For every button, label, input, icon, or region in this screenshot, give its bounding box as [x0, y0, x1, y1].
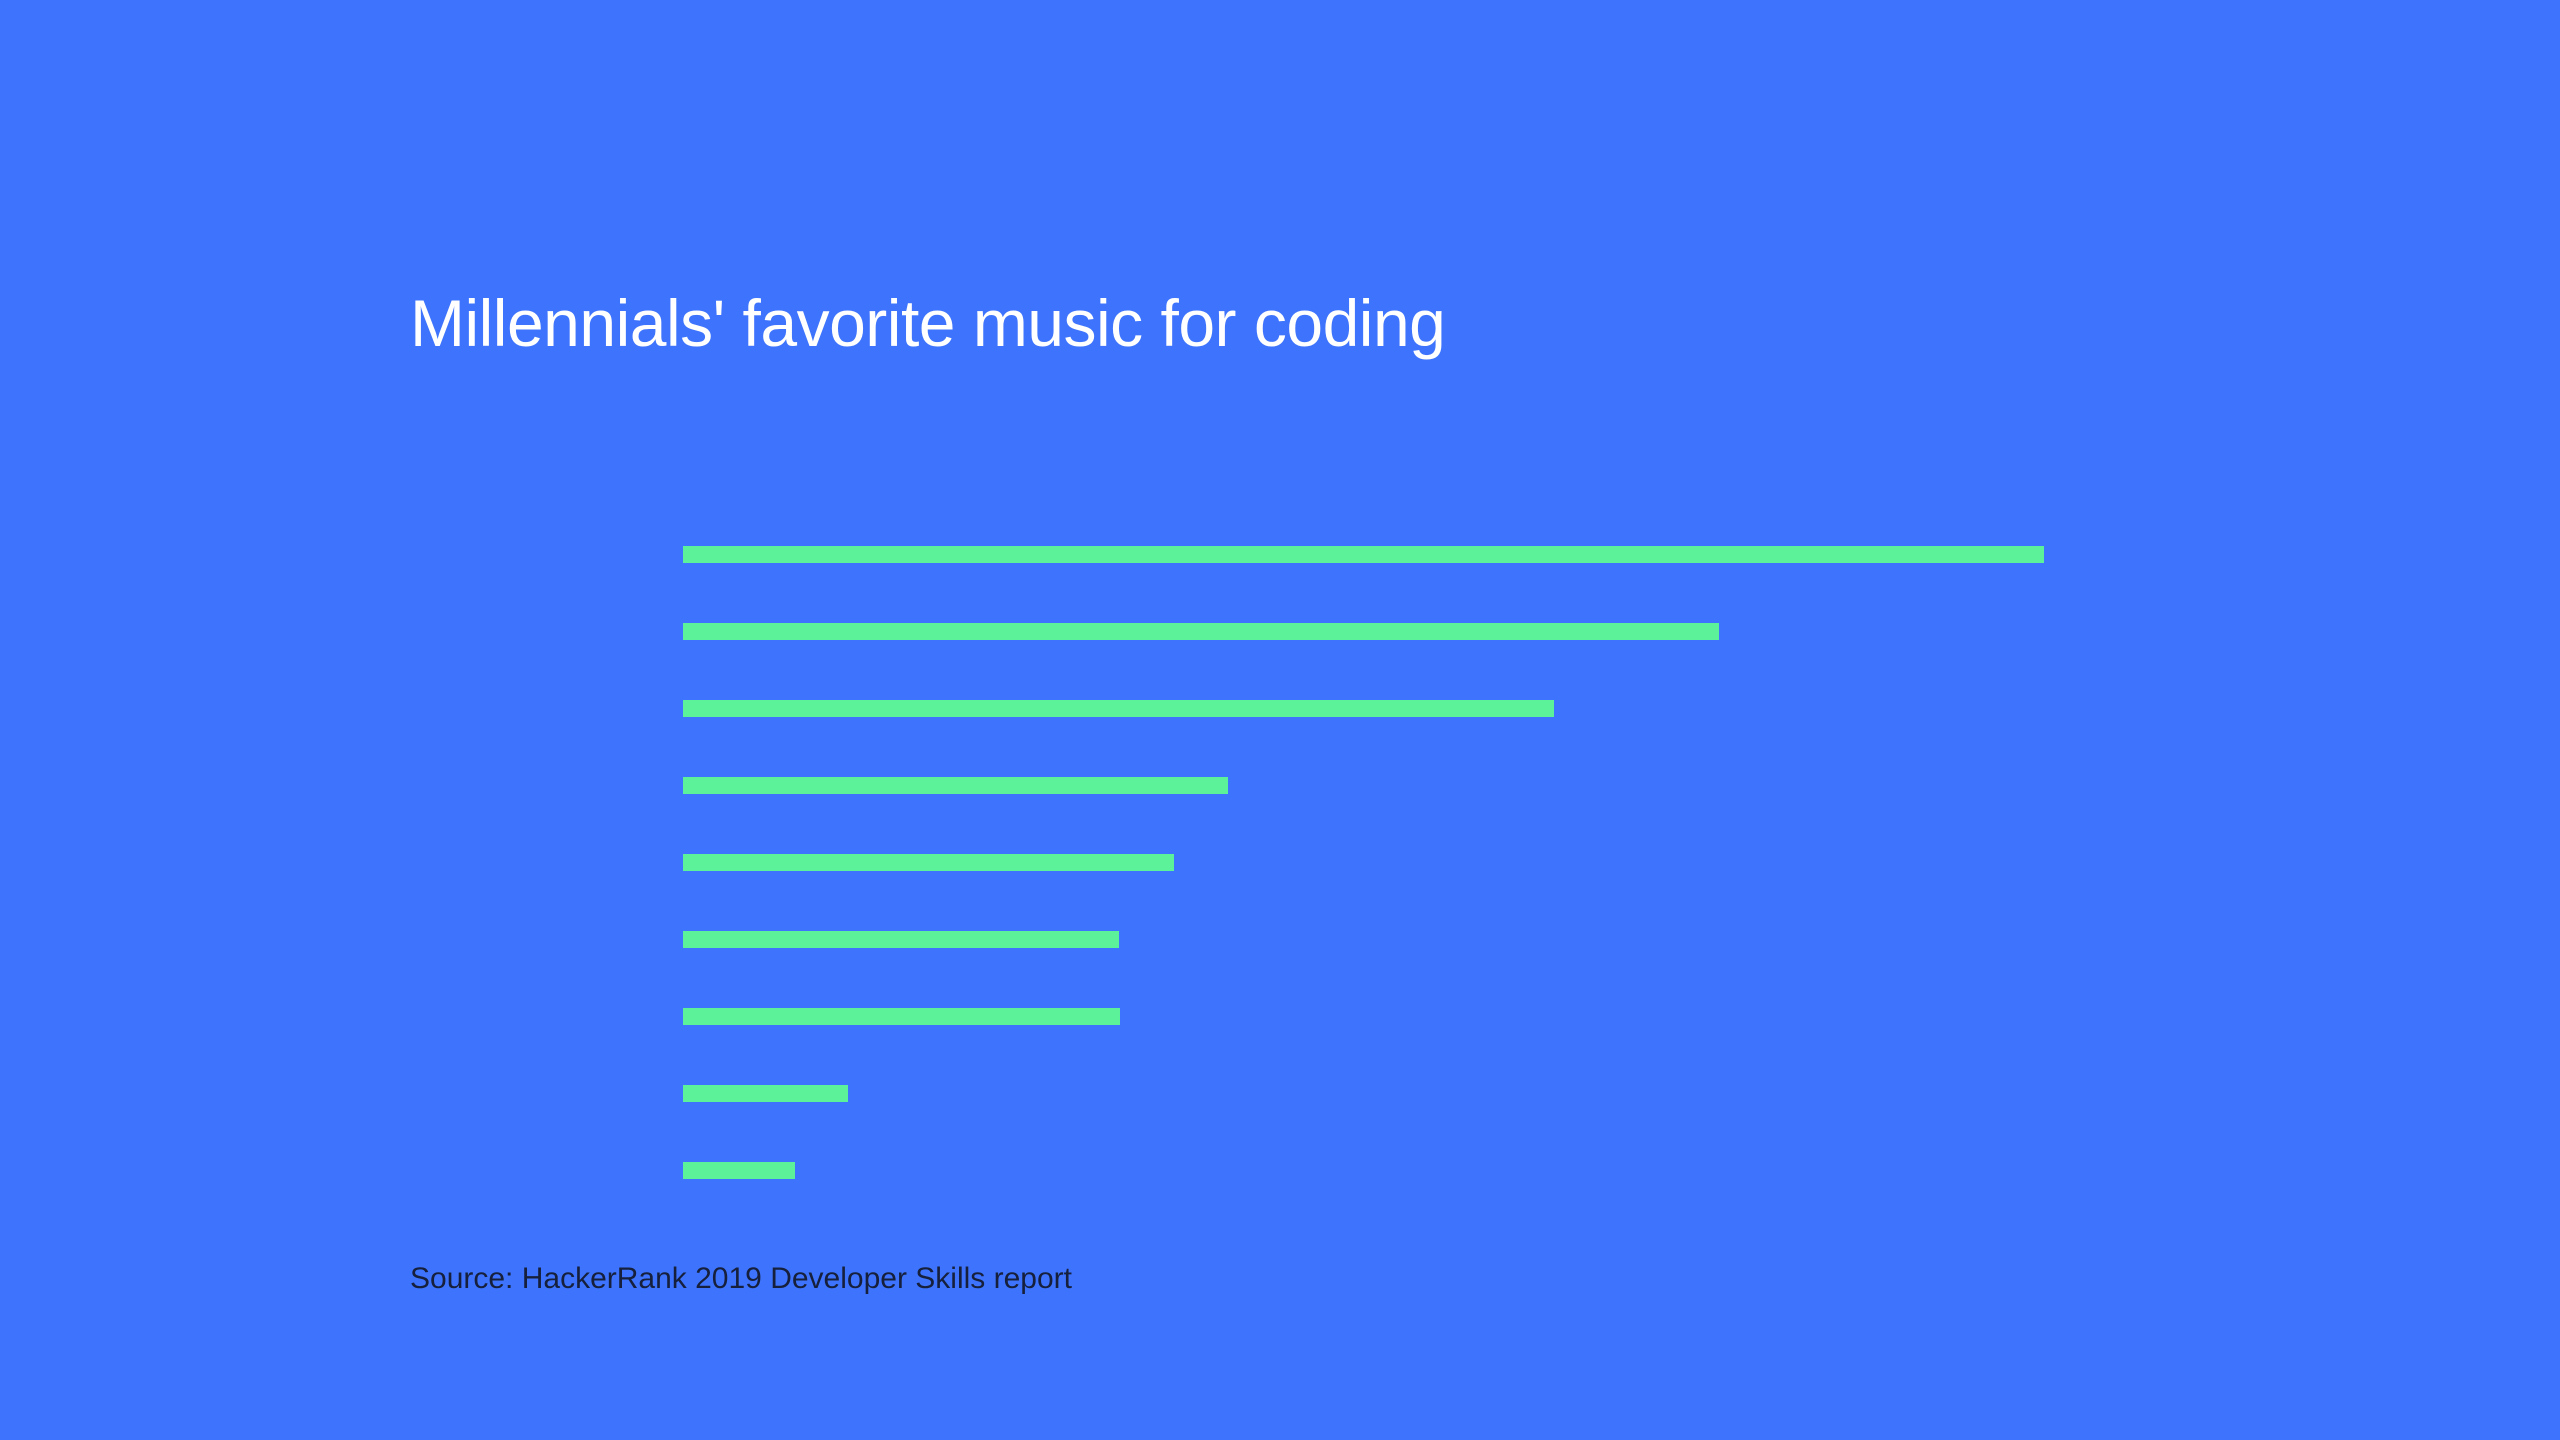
bar-row — [683, 931, 1119, 948]
bar-fill — [683, 623, 1719, 640]
bar-row — [683, 623, 1719, 640]
bar-fill — [683, 931, 1119, 948]
bar-fill — [683, 854, 1174, 871]
page-title: Millennials' favorite music for coding — [410, 286, 1445, 362]
bar-row — [683, 546, 2044, 563]
source-note: Source: HackerRank 2019 Developer Skills… — [410, 1262, 1072, 1296]
bar-row — [683, 1008, 1120, 1025]
bar-row — [683, 700, 1554, 717]
bar-fill — [683, 1085, 848, 1102]
bar-row — [683, 854, 1174, 871]
bar-row — [683, 777, 1228, 794]
bar-fill — [683, 1162, 795, 1179]
slide-canvas: Millennials' favorite music for coding S… — [0, 0, 2560, 1440]
bar-fill — [683, 700, 1554, 717]
bar-fill — [683, 1008, 1120, 1025]
bar-fill — [683, 546, 2044, 563]
bar-row — [683, 1085, 848, 1102]
bar-fill — [683, 777, 1228, 794]
bar-chart — [683, 546, 2183, 1186]
bar-row — [683, 1162, 795, 1179]
